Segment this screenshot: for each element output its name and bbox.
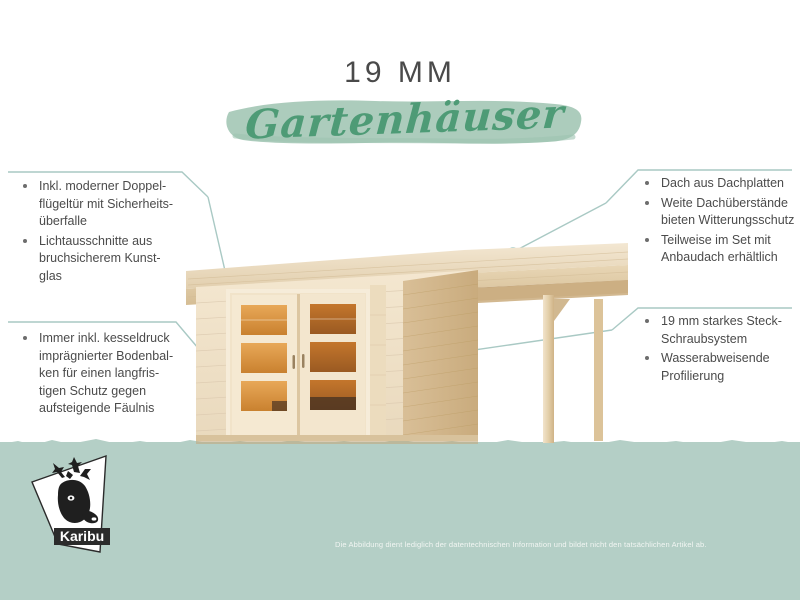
disclaimer-text: Die Abbildung dient lediglich der datent… [335, 540, 790, 549]
callout-item-text: Dach aus Dachplatten [661, 176, 784, 190]
bullet-icon [645, 238, 649, 242]
deer-pupil [70, 497, 73, 500]
door-handle-left [293, 355, 296, 369]
door-handle-right [302, 354, 305, 368]
karibu-logo: Karibu [28, 452, 133, 557]
callout-item: 19 mm starkes Steck-Schraubsystem [640, 313, 800, 348]
bullet-icon [645, 201, 649, 205]
canopy-post-back [594, 299, 603, 441]
callout-item: Dach aus Dachplatten [640, 175, 800, 193]
floor-beam [196, 435, 478, 441]
callout-wall-system: 19 mm starkes Steck-Schraubsystem Wasser… [640, 313, 800, 387]
glass-pane [241, 343, 287, 373]
door-center-gap [297, 294, 300, 439]
bullet-icon [23, 184, 27, 188]
bullet-icon [23, 239, 27, 243]
garden-house-illustration [178, 225, 628, 450]
deer-nostril [92, 517, 97, 520]
callout-item-text: 19 mm starkes Steck-Schraubsystem [661, 314, 782, 346]
canopy-brace [554, 299, 570, 321]
bullet-icon [23, 336, 27, 340]
callout-item: Wasserabweisende Profilierung [640, 350, 800, 385]
interior-shadow [310, 397, 356, 410]
floor-beam-shadow [196, 441, 478, 444]
callout-item: Lichtausschnitte aus bruchsicherem Kunst… [18, 233, 178, 286]
callout-item-text: Teilweise im Set mit Anbaudach erhältlic… [661, 233, 778, 265]
door-side-post [370, 285, 386, 440]
poster-canvas: 19 MM Gartenhäuser [0, 0, 800, 600]
interior-shadow [272, 401, 287, 411]
bullet-icon [645, 181, 649, 185]
glass-pane [310, 342, 356, 372]
callout-item: Inkl. moderner Doppel-flügeltür mit Sich… [18, 178, 178, 231]
callout-roof-features: Dach aus Dachplatten Weite Dachüberständ… [640, 175, 800, 269]
callout-item: Teilweise im Set mit Anbaudach erhältlic… [640, 232, 800, 267]
callout-item-text: Lichtausschnitte aus bruchsicherem Kunst… [39, 234, 161, 283]
canopy-post-front [543, 295, 554, 443]
bullet-icon [645, 319, 649, 323]
callout-doors-and-glazing: Inkl. moderner Doppel-flügeltür mit Sich… [18, 178, 178, 287]
callout-item-text: Immer inkl. kesseldruck imprägnierter Bo… [39, 331, 173, 415]
callout-item-text: Inkl. moderner Doppel-flügeltür mit Sich… [39, 179, 173, 228]
side-wall [403, 270, 478, 440]
logo-wordmark: Karibu [60, 528, 104, 544]
callout-item-text: Wasserabweisende Profilierung [661, 351, 770, 383]
callout-floor-beams: Immer inkl. kesseldruck imprägnierter Bo… [18, 330, 178, 420]
title-brush-block: Gartenhäuser [225, 96, 585, 158]
page-kicker: 19 MM [0, 56, 800, 90]
callout-item-text: Weite Dachüberstände bieten Witterungssc… [661, 196, 794, 228]
callout-item: Immer inkl. kesseldruck imprägnierter Bo… [18, 330, 178, 418]
callout-item: Weite Dachüberstände bieten Witterungssc… [640, 195, 800, 230]
bullet-icon [645, 356, 649, 360]
